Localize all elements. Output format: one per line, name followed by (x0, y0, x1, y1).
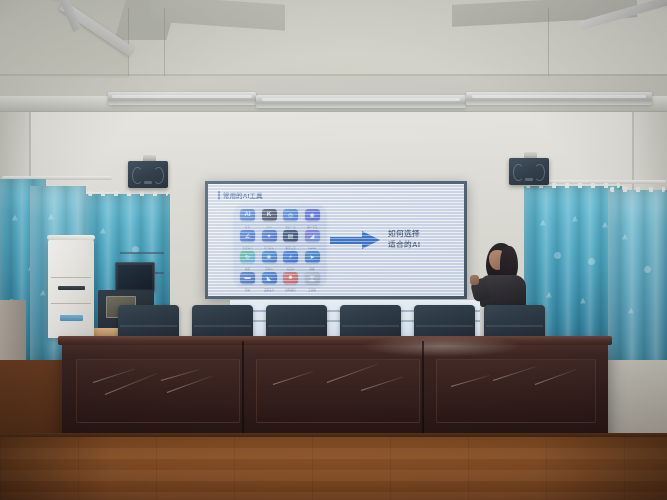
ai-tool-cell[interactable]: ↻秘塔 (238, 251, 257, 270)
ac-seam (51, 277, 91, 278)
curtain-rings (88, 191, 168, 196)
curtain-motif-icon (12, 215, 18, 222)
ai-tool-label: Copilot (303, 247, 322, 250)
ac-control-badge[interactable] (60, 315, 83, 321)
ai-tool-icon[interactable]: ▬ (240, 272, 255, 284)
ai-tool-label: 通义千问 (303, 225, 322, 229)
title-accent-bar (218, 191, 220, 200)
ai-tool-label: 智谱清言 (238, 246, 257, 250)
wall-speaker-right (509, 158, 549, 185)
ai-tool-cell[interactable]: ⚡可灵AI (281, 251, 300, 270)
panel-inlay (535, 369, 577, 385)
curtain-dot (554, 252, 561, 259)
ai-tool-label: 文心一言 (281, 225, 300, 229)
ai-tool-icon[interactable]: ✦ (262, 230, 277, 242)
ceiling-joint-line (164, 8, 165, 76)
curtain-motif-icon (546, 292, 552, 299)
ai-tool-label: 海螺 (303, 267, 322, 271)
ai-tool-cell[interactable]: ◉通义千问 (303, 209, 322, 228)
podium-panel-3 (436, 359, 596, 423)
podium-top-surface (58, 336, 612, 345)
ai-tools-card: AI豆包KKimi◎文心一言◉通义千问∠智谱清言✦讯飞星火▤腾讯元宝◢Copil… (234, 205, 326, 286)
air-conditioner[interactable] (48, 239, 94, 338)
led-screen[interactable]: 常用的AI工具 AI豆包KKimi◎文心一言◉通义千问∠智谱清言✦讯飞星火▤腾讯… (208, 184, 464, 296)
ai-tool-icon[interactable]: ▤ (283, 230, 298, 242)
ai-tool-cell[interactable]: ◎文心一言 (281, 209, 300, 228)
ai-tool-cell[interactable]: ◢Copilot (303, 230, 322, 249)
ac-top-cap (47, 235, 95, 240)
panel-inlay (161, 369, 200, 381)
desktop-monitor[interactable] (115, 262, 155, 292)
ai-tool-cell[interactable]: ➤海螺 (303, 251, 322, 270)
floor-shadow-right (537, 437, 667, 500)
monitor-screen (118, 265, 152, 289)
ceiling-panel-edge (0, 74, 667, 76)
arrow-shaft (330, 237, 364, 244)
panel-inlay (327, 364, 378, 384)
wall-speaker-left (128, 161, 168, 188)
floor-shadow-left (0, 437, 110, 500)
ai-tool-cell[interactable]: ◣美图设计 (260, 272, 279, 291)
rack-shelf (120, 252, 164, 254)
slide-question-text: 如何选择 适合的AI (388, 228, 420, 250)
ai-tool-cell[interactable]: KKimi (260, 209, 279, 228)
ai-tool-icon[interactable]: K (262, 209, 277, 221)
panel-inlay (93, 368, 135, 383)
ai-tool-cell[interactable]: ❀即梦AI (260, 251, 279, 270)
ai-tool-cell[interactable]: 工工具箱 (303, 272, 322, 291)
ac-vent (58, 286, 85, 290)
curtain-motif-icon (540, 220, 546, 227)
ai-tool-cell[interactable]: AI豆包 (238, 209, 257, 228)
ai-tool-icon[interactable]: AI (240, 209, 255, 221)
led-screen-frame: 常用的AI工具 AI豆包KKimi◎文心一言◉通义千问∠智谱清言✦讯飞星火▤腾讯… (205, 181, 467, 299)
ai-tool-label: 秘塔 (238, 267, 257, 271)
curtain-right-corner (608, 190, 667, 370)
ai-tool-icon[interactable]: ☻ (283, 272, 298, 284)
ceiling-fan-blade-top-left (48, 0, 163, 42)
ai-tool-icon[interactable]: ➤ (305, 251, 320, 263)
curtain-motif-icon (40, 290, 46, 297)
curtain-dot (644, 266, 651, 273)
left-cabinet (0, 300, 26, 360)
podium-desk (62, 341, 608, 445)
panel-inlay (273, 371, 313, 385)
slide-question-line1: 如何选择 (388, 228, 420, 239)
ai-tool-icon[interactable]: ◢ (305, 230, 320, 242)
ai-tool-label: 即梦AI (260, 267, 279, 271)
ai-tool-icon[interactable]: ◉ (305, 209, 320, 221)
ceiling-fan-blade-top-right (565, 0, 667, 34)
slide-question-line2: 适合的AI (388, 239, 420, 250)
slide-title: 常用的AI工具 (218, 191, 263, 200)
presenter-hand (470, 275, 479, 285)
ac-seam (51, 303, 91, 304)
curtain-motif-icon (572, 216, 578, 223)
ceiling-joint-line (548, 8, 549, 76)
panel-inlay (451, 375, 490, 387)
curtain-motif-icon (628, 308, 634, 315)
curtain-motif-icon (622, 234, 628, 241)
podium-panel-2 (256, 359, 420, 423)
speaker-badge (144, 181, 152, 184)
curtain-motif-icon (580, 298, 586, 305)
fluorescent-light-center (256, 95, 466, 108)
ai-tool-icon[interactable]: ↻ (240, 251, 255, 263)
ai-tool-icon[interactable]: ◣ (262, 272, 277, 284)
ai-tool-label: 腾讯元宝 (281, 246, 300, 250)
curtain-motif-icon (48, 214, 54, 221)
ai-tool-label: Kimi (260, 226, 279, 229)
ai-tool-label: 剪映 (238, 288, 257, 292)
curtain-rings (610, 187, 665, 192)
arrow-head (362, 231, 380, 249)
ai-tool-icon[interactable]: ∠ (240, 230, 255, 242)
ai-tool-cell[interactable]: ✦讯飞星火 (260, 230, 279, 249)
podium-highlight (362, 335, 522, 357)
right-arrow-icon (330, 231, 382, 249)
ai-tool-icon[interactable]: ◎ (283, 209, 298, 221)
ai-tool-label: 工具箱 (303, 288, 322, 292)
fluorescent-light-right (466, 92, 652, 105)
curtain-motif-icon (100, 228, 106, 235)
panel-inlay (167, 376, 213, 394)
ai-tool-icon[interactable]: 工 (305, 272, 320, 284)
ai-tool-icon[interactable]: ❀ (262, 251, 277, 263)
ai-tool-icon[interactable]: ⚡ (283, 251, 298, 263)
ai-tool-cell[interactable]: ▬剪映 (238, 272, 257, 291)
ai-tool-label: 妙鸭相机 (281, 288, 300, 292)
speaker-badge (525, 178, 533, 181)
ai-tool-cell[interactable]: ▤腾讯元宝 (281, 230, 300, 249)
stage-side-right (605, 360, 667, 438)
room-scene: 常用的AI工具 AI豆包KKimi◎文心一言◉通义千问∠智谱清言✦讯飞星火▤腾讯… (0, 0, 667, 500)
ai-tool-label: 可灵AI (281, 267, 300, 271)
fan-blade (579, 0, 667, 30)
panel-inlay (361, 376, 403, 391)
ai-tool-label: 讯飞星火 (260, 246, 279, 250)
podium-seam (422, 341, 424, 445)
ai-tool-cell[interactable]: ∠智谱清言 (238, 230, 257, 249)
fluorescent-light-left (108, 92, 256, 105)
podium-panel-1 (76, 359, 240, 423)
ai-tools-icon-grid: AI豆包KKimi◎文心一言◉通义千问∠智谱清言✦讯飞星火▤腾讯元宝◢Copil… (238, 209, 322, 291)
ai-tool-label: 美图设计 (260, 288, 279, 292)
podium-seam (242, 341, 244, 445)
presenter (476, 243, 534, 305)
slide-title-text: 常用的AI工具 (223, 191, 263, 200)
panel-inlay (493, 366, 537, 381)
ai-tool-label: 豆包 (238, 225, 257, 229)
ai-tool-cell[interactable]: ☻妙鸭相机 (281, 272, 300, 291)
curtain-dot (588, 258, 595, 265)
